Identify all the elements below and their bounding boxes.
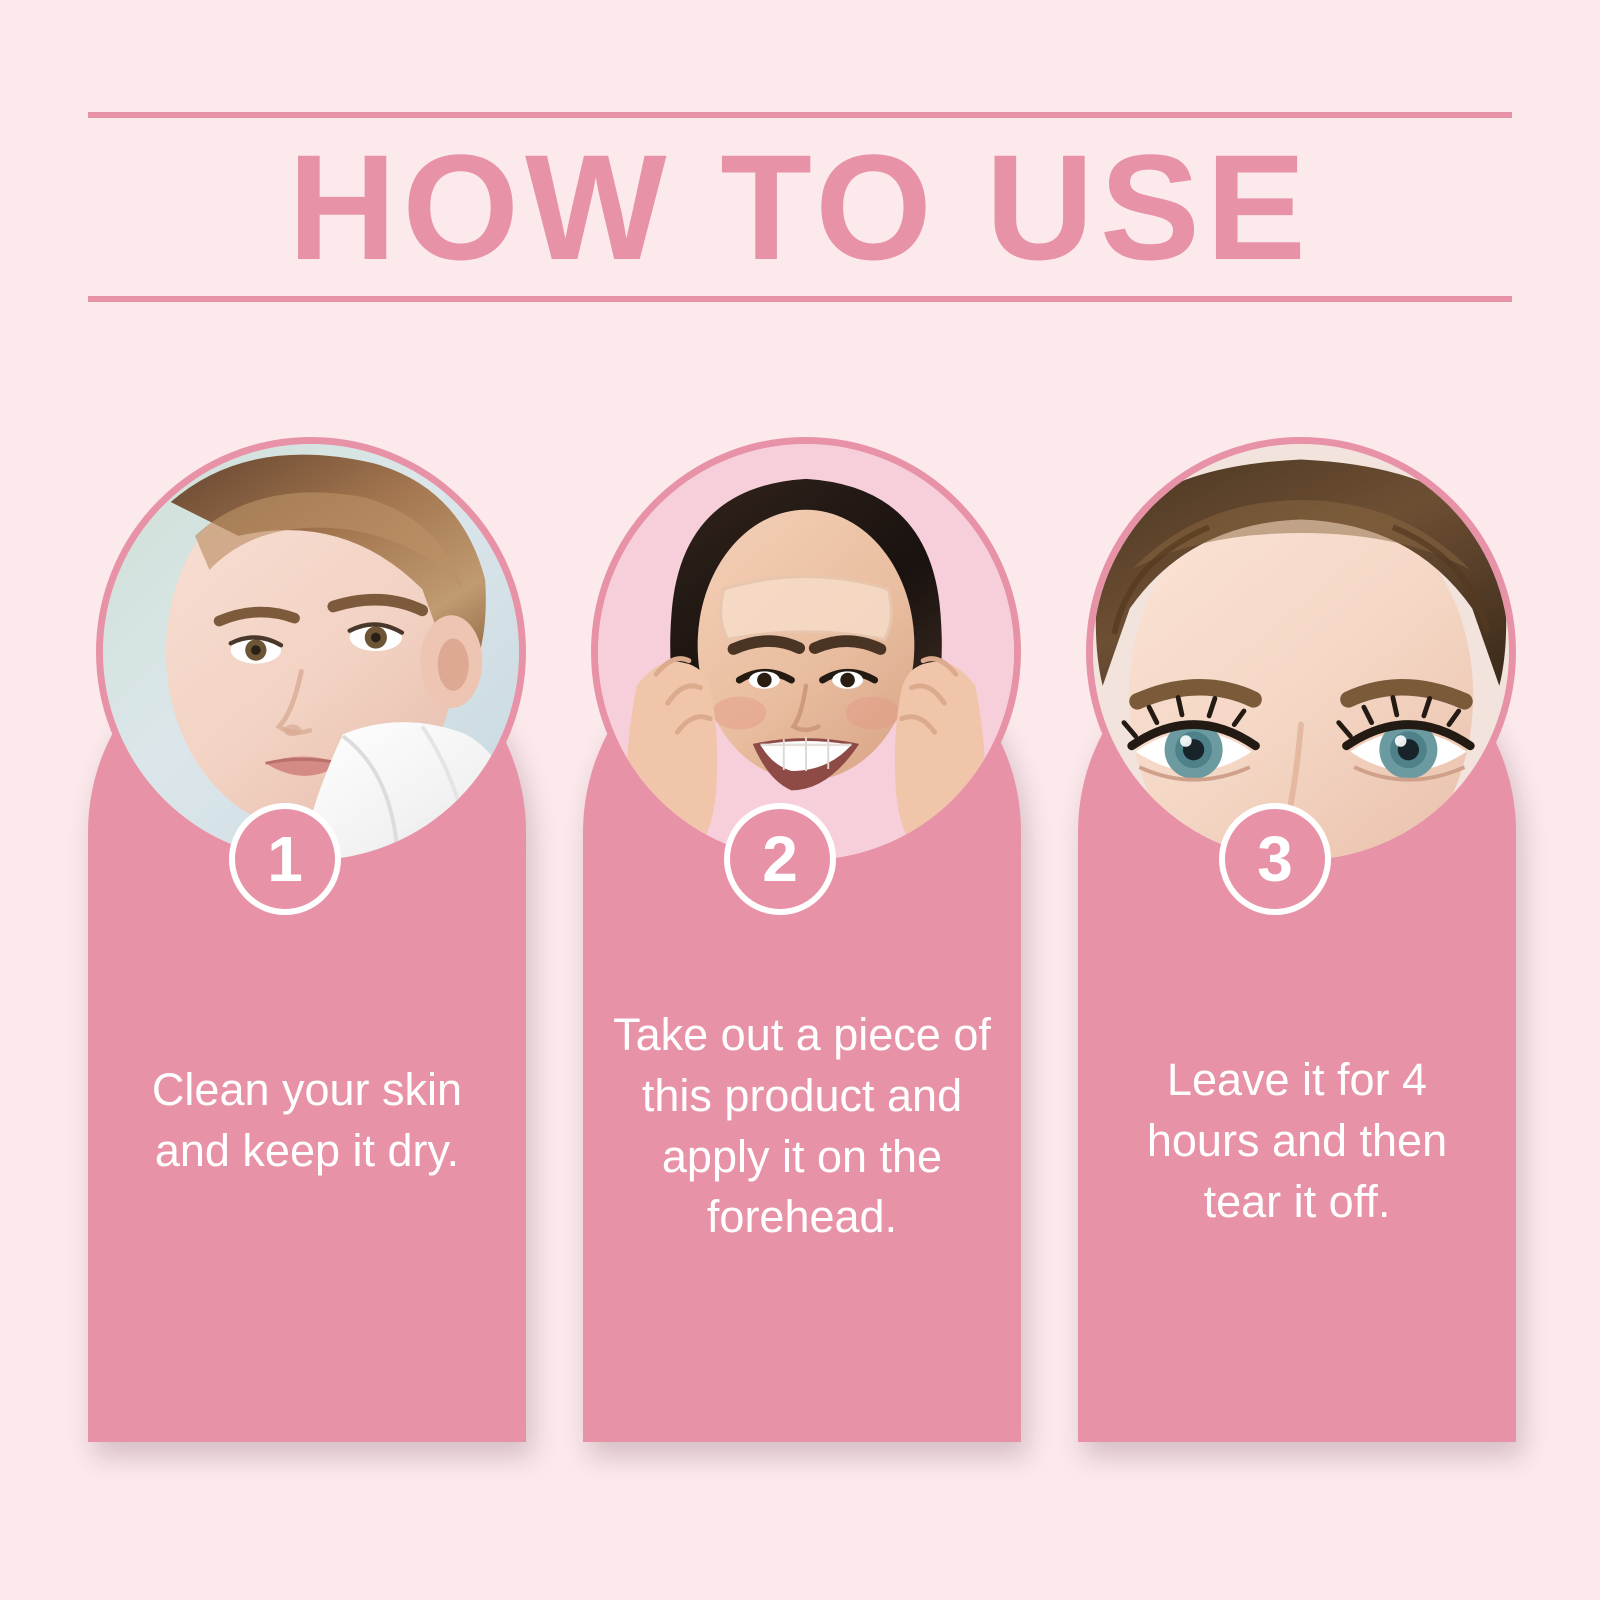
smiling-woman-applying-forehead-patch-icon — [598, 444, 1014, 860]
step-1-badge: 1 — [229, 803, 341, 915]
step-2-photo — [591, 437, 1021, 867]
step-3-badge: 3 — [1219, 803, 1331, 915]
woman-wiping-face-with-cloth-icon — [103, 444, 519, 860]
header-band: HOW TO USE — [88, 112, 1512, 302]
step-2-badge: 2 — [724, 803, 836, 915]
step-1-number: 1 — [267, 827, 303, 891]
infographic-canvas: HOW TO USE — [0, 0, 1600, 1600]
step-1-photo — [96, 437, 526, 867]
step-2-caption: Take out a piece of this product and app… — [597, 1005, 1007, 1248]
close-up-woman-eyes-and-forehead-icon — [1093, 444, 1509, 860]
step-3-number: 3 — [1257, 827, 1293, 891]
step-3-caption: Leave it for 4 hours and then tear it of… — [1092, 1050, 1502, 1232]
page-title: HOW TO USE — [88, 132, 1512, 282]
title-rule-bottom — [88, 296, 1512, 302]
step-3-photo — [1086, 437, 1516, 867]
step-2-number: 2 — [762, 827, 798, 891]
step-1-caption: Clean your skin and keep it dry. — [102, 1060, 512, 1182]
title-rule-top — [88, 112, 1512, 118]
